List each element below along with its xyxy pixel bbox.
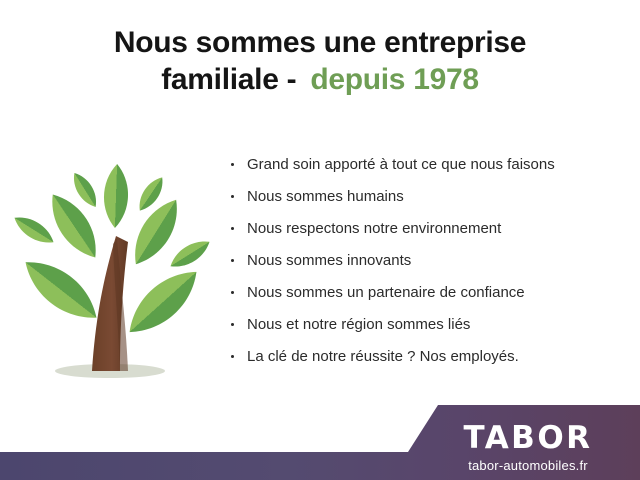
- list-item: Nous sommes un partenaire de confiance: [228, 280, 628, 312]
- title-accent-text: depuis 1978: [310, 63, 478, 96]
- leaf: [41, 187, 107, 266]
- title-line-2-plain: familiale -: [161, 63, 296, 96]
- list-item: Nous et notre région sommes liés: [228, 312, 628, 344]
- list-item: Nous sommes innovants: [228, 248, 628, 280]
- bullet-dot-icon: [231, 291, 234, 294]
- list-item-label: Grand soin apporté à tout ce que nous fa…: [247, 156, 555, 173]
- leaf: [103, 164, 129, 229]
- slide-canvas: Nous sommes une entreprise familiale -de…: [0, 0, 640, 480]
- leaf: [166, 235, 213, 273]
- leaf: [10, 211, 58, 249]
- brand-logo[interactable]: TABOR tabor-automobiles.fr: [428, 423, 628, 472]
- bullet-dot-icon: [231, 323, 234, 326]
- tree-illustration-svg: [8, 150, 213, 385]
- benefits-list: Grand soin apporté à tout ce que nous fa…: [228, 152, 628, 376]
- footer-banner: TABOR tabor-automobiles.fr: [0, 400, 640, 480]
- leaf: [15, 249, 106, 330]
- list-item-label: Nous et notre région sommes liés: [247, 316, 470, 333]
- leaf: [119, 260, 208, 345]
- page-title: Nous sommes une entreprise familiale -de…: [0, 26, 640, 98]
- bullet-dot-icon: [231, 355, 234, 358]
- bullet-dot-icon: [231, 195, 234, 198]
- list-item: Grand soin apporté à tout ce que nous fa…: [228, 152, 628, 184]
- list-item-label: Nous sommes un partenaire de confiance: [247, 284, 525, 301]
- brand-tagline: tabor-automobiles.fr: [428, 459, 628, 472]
- list-item-label: Nous respectons notre environnement: [247, 220, 501, 237]
- list-item-label: Nous sommes humains: [247, 188, 404, 205]
- bullet-dot-icon: [231, 259, 234, 262]
- list-item-label: La clé de notre réussite ? Nos employés.: [247, 348, 519, 365]
- list-item-label: Nous sommes innovants: [247, 252, 411, 269]
- list-item: Nous sommes humains: [228, 184, 628, 216]
- tree-illustration: [8, 150, 213, 385]
- list-item: La clé de notre réussite ? Nos employés.: [228, 344, 628, 376]
- bullet-dot-icon: [231, 163, 234, 166]
- title-line-1: Nous sommes une entreprise: [0, 26, 640, 61]
- brand-wordmark: TABOR: [428, 423, 628, 454]
- list-item: Nous respectons notre environnement: [228, 216, 628, 248]
- bullet-dot-icon: [231, 227, 234, 230]
- title-line-2: familiale -depuis 1978: [0, 63, 640, 98]
